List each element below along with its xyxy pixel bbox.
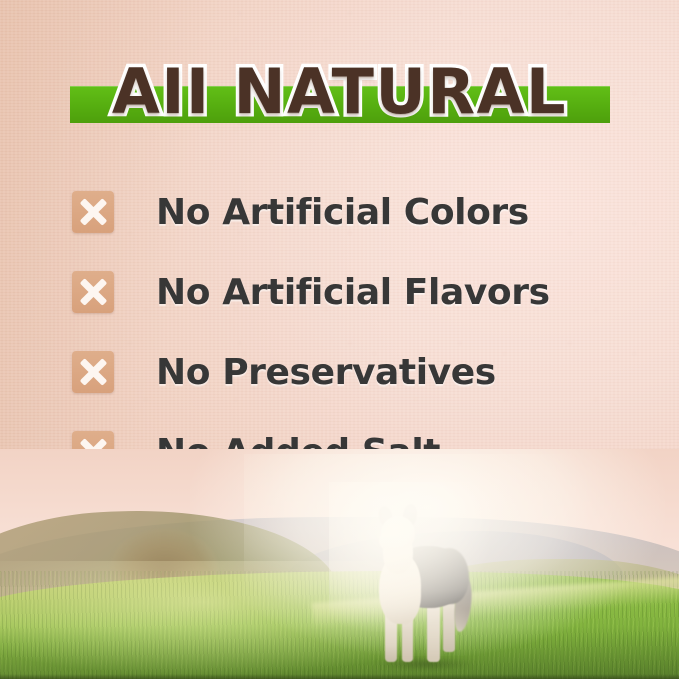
dog-back-right-leg bbox=[443, 600, 455, 652]
x-mark-icon bbox=[72, 271, 114, 313]
benefit-item: No Artificial Flavors bbox=[72, 252, 632, 332]
landscape-photo bbox=[0, 449, 679, 679]
grass-meadow bbox=[0, 571, 679, 679]
benefits-list: No Artificial Colors No Artificial Flavo… bbox=[72, 172, 632, 492]
headline-text: AII NATURAL bbox=[0, 44, 679, 140]
dog bbox=[355, 504, 475, 669]
x-mark-icon bbox=[72, 351, 114, 393]
benefit-label: No Artificial Colors bbox=[156, 192, 529, 233]
dog-back-left-leg bbox=[427, 602, 440, 662]
benefit-label: No Artificial Flavors bbox=[156, 272, 550, 313]
benefit-item: No Artificial Colors bbox=[72, 172, 632, 252]
benefit-label: No Preservatives bbox=[156, 352, 496, 393]
headline-block: AII NATURAL bbox=[0, 44, 679, 140]
x-mark-icon bbox=[72, 191, 114, 233]
all-natural-poster: AII NATURAL No Artificial Colors No Arti… bbox=[0, 0, 679, 679]
dog-muzzle bbox=[379, 532, 399, 550]
benefit-item: No Preservatives bbox=[72, 332, 632, 412]
